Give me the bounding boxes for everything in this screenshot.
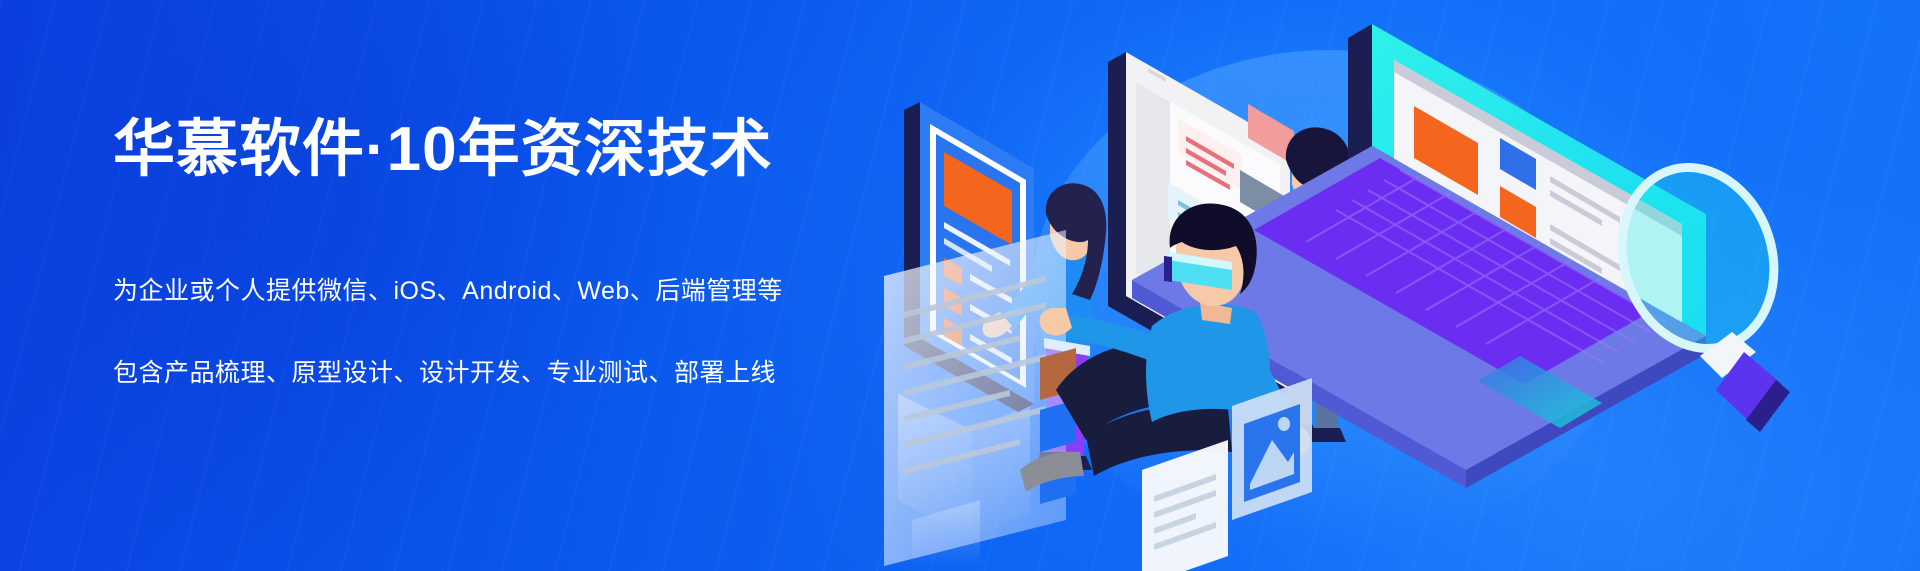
hero-banner: 华慕软件·10年资深技术 为企业或个人提供微信、iOS、Android、Web、… <box>0 0 1920 571</box>
hero-copy-block: 华慕软件·10年资深技术 为企业或个人提供微信、iOS、Android、Web、… <box>113 112 873 390</box>
hero-subline-services: 为企业或个人提供微信、iOS、Android、Web、后端管理等 <box>113 274 873 308</box>
vr-hand-left <box>1040 308 1072 336</box>
vr-goggles-strap <box>1164 256 1172 282</box>
image-card-sun <box>1278 417 1290 431</box>
document-card-large <box>884 230 1076 566</box>
hero-subline-process: 包含产品梳理、原型设计、设计开发、专业测试、部署上线 <box>113 356 873 390</box>
hero-illustration <box>860 0 1920 571</box>
hero-headline: 华慕软件·10年资深技术 <box>113 112 873 188</box>
developer-shoe-front <box>1310 428 1346 442</box>
